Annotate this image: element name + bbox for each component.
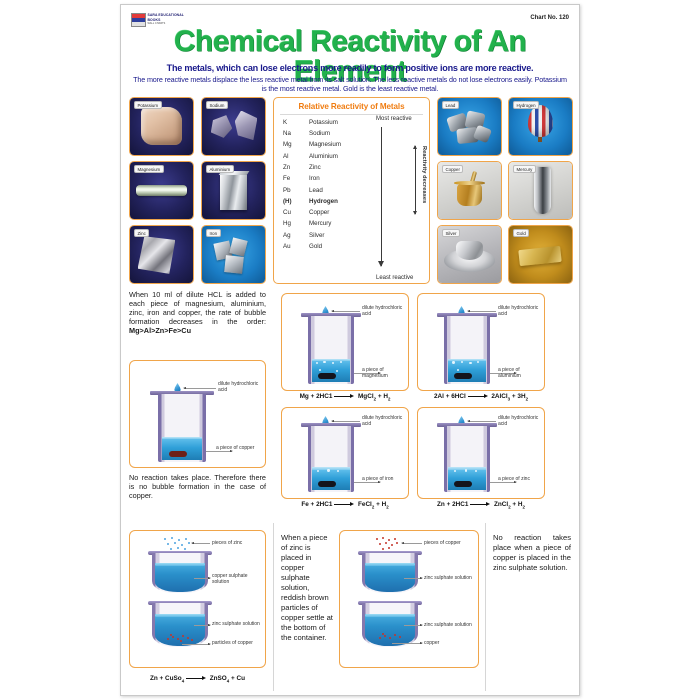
divider [485,523,486,691]
beaker-aluminium [444,316,490,384]
reactivity-table-title: Relative Reactivity of Metals [274,102,429,111]
photo-hydrogen: Hydrogen [508,97,573,156]
chart-number: Chart No. 120 [530,15,569,21]
leader-line [468,421,496,422]
panel-copper: dilute hydrochloric acid a piece of copp… [129,360,266,468]
metal-symbol: (H) [283,196,309,207]
logo-mark-icon [131,13,146,27]
photo-sodium: Sodium [201,97,266,156]
beaker-zinc-sulphate-top [362,553,418,593]
photo-caption: Sodium [206,101,228,109]
leader-line [184,388,216,389]
metal-symbol: Na [283,128,309,139]
metal-symbol: Ag [283,230,309,241]
reactivity-down-arrow-icon [381,127,382,266]
equation-zinc: Zn + 2HC1 ZnCl2 + H2 [417,501,545,509]
zinc-sulphate-label: zinc sulphate solution [424,622,476,628]
bottom-middle-text: When a piece of zinc is placed in copper… [281,533,333,643]
photo-caption: Copper [442,165,463,173]
metal-name: Magnesium [309,139,341,150]
photo-silver: Silver [437,225,502,284]
metal-piece-copper [169,451,187,457]
copper-particles-label: particles of copper [212,640,264,646]
metal-symbol: Fe [283,173,309,184]
photo-caption: Gold [513,229,529,237]
metal-name: Hydrogen [309,196,338,207]
metal-symbol: K [283,117,309,128]
photo-gold: Gold [508,225,573,284]
zinc-pieces-icon [162,537,190,551]
photo-caption: Zinc [134,229,149,237]
metal-symbol: Zn [283,162,309,173]
beaker-copper-sulphate [152,553,208,593]
hcl-paragraph: When 10 ml of dilute HCL is added to eac… [129,290,266,335]
metal-name: Copper [309,207,329,218]
panel-zinc-in-copper-sulphate: pieces of zinc copper sulphate solution … [129,530,266,668]
metal-name: Sodium [309,128,330,139]
equation-left: Mg + 2HC1 [300,393,333,400]
logo-main-text: SARA EDUCATIONAL BOOKS [148,13,184,21]
equation-left: Zn + 2HC1 [437,501,468,508]
reactivity-double-arrow-icon [415,146,416,214]
panel-iron: dilute hydrochloric acid a piece of iron [281,407,409,499]
zinc-sulphate-label: zinc sulphate solution [212,621,264,627]
copper-pieces-icon [374,537,400,551]
divider [273,523,274,691]
hcl-paragraph-text: When 10 ml of dilute HCL is added to eac… [129,290,266,326]
metal-symbol: Pb [283,185,309,196]
leader-line [404,578,422,579]
leader-line [192,543,210,544]
metal-symbol: Hg [283,218,309,229]
leader-line [182,644,210,645]
reactivity-arrow-column: Most reactive Reactivity decreases Least… [370,116,428,281]
leader-line [332,421,360,422]
copper-note: No reaction takes place. Therefore there… [129,473,266,500]
subtitle-body: The more reactive metals displace the le… [131,75,569,93]
acid-label: dilute hydrochloric acid [498,415,540,427]
leader-line [404,625,422,626]
photo-caption: Iron [206,229,221,237]
beaker-zinc [444,426,490,492]
beaker-magnesium [308,316,354,384]
metal-symbol: Au [283,241,309,252]
copper-settled-icon [378,633,404,641]
reaction-arrow-icon [468,394,490,399]
bottom-right-text: No reaction takes place when a piece of … [493,533,571,573]
metal-name: Mercury [309,218,331,229]
panel-zinc: dilute hydrochloric acid a piece of zinc [417,407,545,499]
subtitle-bold: The metals, which can lose electrons mor… [129,63,571,73]
metal-label: a piece of magnesium [362,367,406,379]
acid-label: dilute hydrochloric acid [362,305,404,317]
photo-copper: Copper [437,161,502,220]
acid-label: dilute hydrochloric acid [362,415,404,427]
equation-zinc-copper-sulphate: Zn + CuSo4 ZnSO4 + Cu [129,675,266,683]
metal-name: Potassium [309,117,338,128]
least-reactive-label: Least reactive [376,275,413,281]
photo-potassium: Potassium [129,97,194,156]
leader-line [194,625,210,626]
equation-right: ZnCl2 + H2 [494,501,525,508]
beaker-copper [158,394,206,462]
metal-piece-zinc [454,481,471,487]
equation-iron: Fe + 2HC1 FeCl2 + H2 [281,501,409,509]
reaction-arrow-icon [186,676,208,681]
copper-label: copper [424,640,476,646]
equation-right: FeCl2 + H2 [358,501,389,508]
equation-right: ZnSO4 + Cu [210,675,245,682]
reaction-arrow-icon [334,502,356,507]
metal-name: Iron [309,173,320,184]
panel-copper-in-zinc-sulphate: pieces of copper zinc sulphate solution … [339,530,479,668]
leader-line [332,311,360,312]
leader-line [392,643,422,644]
equation-left: Fe + 2HC1 [301,501,332,508]
leader-line [402,543,422,544]
leader-line [194,578,210,579]
beaker-iron [308,426,354,492]
equation-aluminium: 2Al + 6HCl 2AlCl3 + 3H2 [417,393,545,401]
metal-label: a piece of copper [216,445,260,451]
photo-lead: Lead [437,97,502,156]
photo-aluminium: Aluminium [201,161,266,220]
zinc-pieces-label: pieces of zinc [212,540,264,546]
photo-caption: Aluminium [206,165,234,173]
metal-name: Lead [309,185,323,196]
metal-piece-aluminium [454,373,471,379]
metal-symbol: Mg [283,139,309,150]
zinc-sulphate-label: zinc sulphate solution [424,575,476,581]
metal-symbol: Cu [283,207,309,218]
photo-iron: Iron [201,225,266,284]
equation-left: Zn + CuSo4 [150,675,184,682]
photo-caption: Silver [442,229,460,237]
copper-pieces-label: pieces of copper [424,540,476,546]
equation-left: 2Al + 6HCl [434,393,466,400]
acid-label: dilute hydrochloric acid [498,305,540,317]
reactivity-table: Relative Reactivity of Metals KPotassium… [273,97,430,284]
photo-caption: Magnesium [134,165,164,173]
reaction-arrow-icon [470,502,492,507]
leader-line [468,311,496,312]
divider [280,114,423,115]
metal-label: a piece of zinc [498,476,542,482]
photo-caption: Hydrogen [513,101,539,109]
photo-caption: Potassium [134,101,162,109]
photo-caption: Mercury [513,165,536,173]
metal-name: Gold [309,241,322,252]
metal-piece-iron [318,481,335,487]
metal-name: Silver [309,230,324,241]
most-reactive-label: Most reactive [376,116,412,122]
metal-name: Zinc [309,162,321,173]
copper-sulphate-label: copper sulphate solution [212,573,262,585]
photo-zinc: Zinc [129,225,194,284]
equation-magnesium: Mg + 2HC1 MgCl2 + H2 [281,393,409,401]
metal-symbol: Al [283,151,309,162]
reaction-arrow-icon [334,394,356,399]
panel-aluminium: dilute hydrochloric acid a piece of alum… [417,293,545,391]
reactivity-order: Mg>Al>Zn>Fe>Cu [129,326,191,335]
metal-label: a piece of iron [362,476,406,482]
equation-right: 2AlCl3 + 3H2 [491,393,528,400]
panel-magnesium: dilute hydrochloric acid a piece of magn… [281,293,409,391]
reactivity-decreases-label: Reactivity decreases [421,146,427,203]
copper-particles-icon [166,634,194,642]
acid-label: dilute hydrochloric acid [218,381,262,393]
metal-piece-magnesium [318,373,335,379]
photo-mercury: Mercury [508,161,573,220]
metal-label: a piece of aluminium [498,367,542,379]
equation-right: MgCl2 + H2 [358,393,390,400]
chart-page: SARA EDUCATIONAL BOOKS WALL CHARTS Chart… [120,4,580,696]
photo-caption: Lead [442,101,459,109]
metal-name: Aluminium [309,151,338,162]
photo-magnesium: Magnesium [129,161,194,220]
